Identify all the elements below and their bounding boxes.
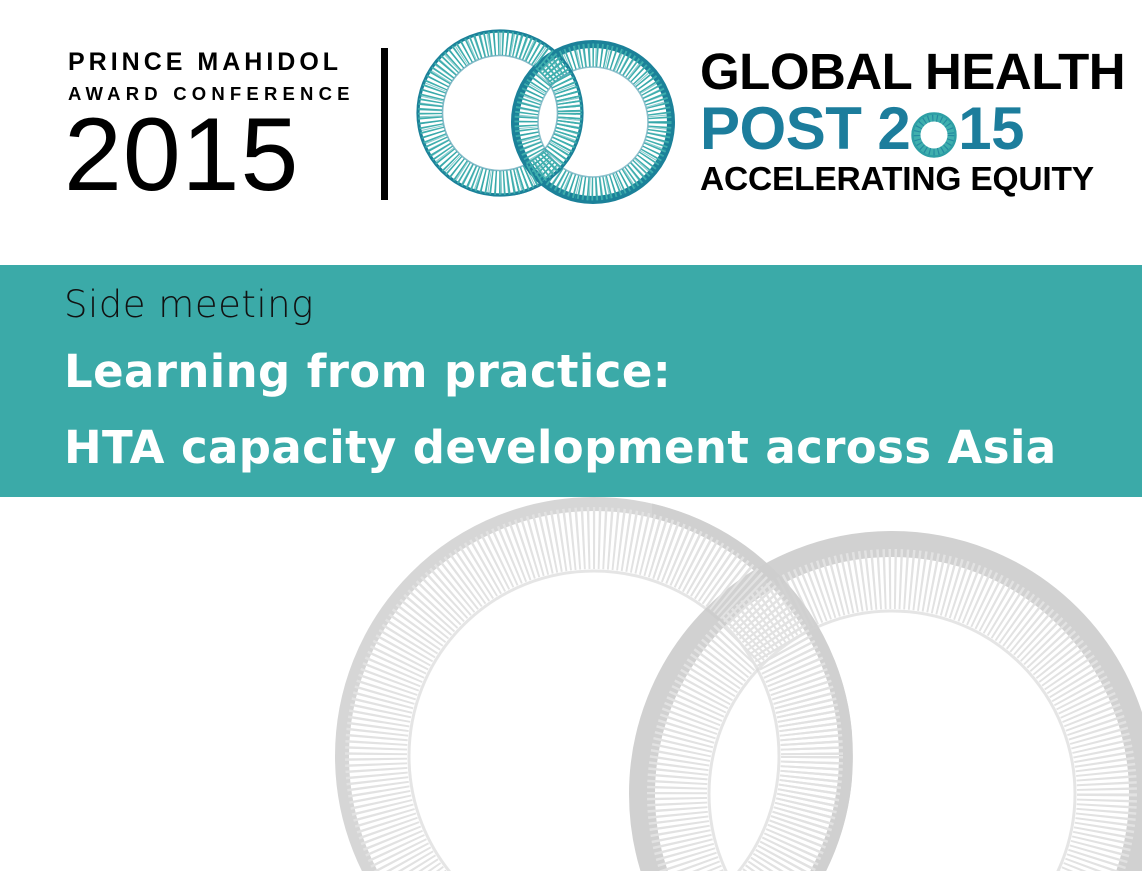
prince-mahidol-award-conference-logo: PRINCE MAHIDOL AWARD CONFERENCE 2015 [68, 50, 358, 201]
numeral-suffix: 15 [958, 99, 1024, 159]
conference-side-meeting-poster: PRINCE MAHIDOL AWARD CONFERENCE 2015 [0, 0, 1142, 871]
numeral-prefix: 2 [877, 99, 910, 159]
numeral-ring-icon [911, 108, 957, 154]
post-word: POST [700, 99, 861, 159]
vertical-divider [381, 48, 388, 200]
event-details: Date:26th Jan 15 Time:09.00-14.30 Place:… [0, 497, 1142, 871]
banner-title-line-2: HTA capacity development across Asia [64, 425, 1057, 470]
banner-kicker: Side meeting [64, 286, 314, 323]
global-health-post-2015-logo: GLOBAL HEALTH POST 2 15 ACCELERATING EQU… [700, 46, 1100, 197]
pmac-year: 2015 [64, 110, 358, 202]
side-meeting-banner: Side meeting Learning from practice: HTA… [0, 265, 1142, 497]
accelerating-equity-text: ACCELERATING EQUITY [700, 163, 1100, 197]
poster-header: PRINCE MAHIDOL AWARD CONFERENCE 2015 [0, 0, 1142, 265]
global-health-text: GLOBAL HEALTH [700, 46, 1100, 97]
two-rings-logo-icon [404, 25, 689, 215]
pmac-line-1: PRINCE MAHIDOL [68, 50, 358, 75]
banner-title-line-1: Learning from practice: [64, 349, 671, 394]
post-2015-text: POST 2 15 [700, 99, 1100, 159]
